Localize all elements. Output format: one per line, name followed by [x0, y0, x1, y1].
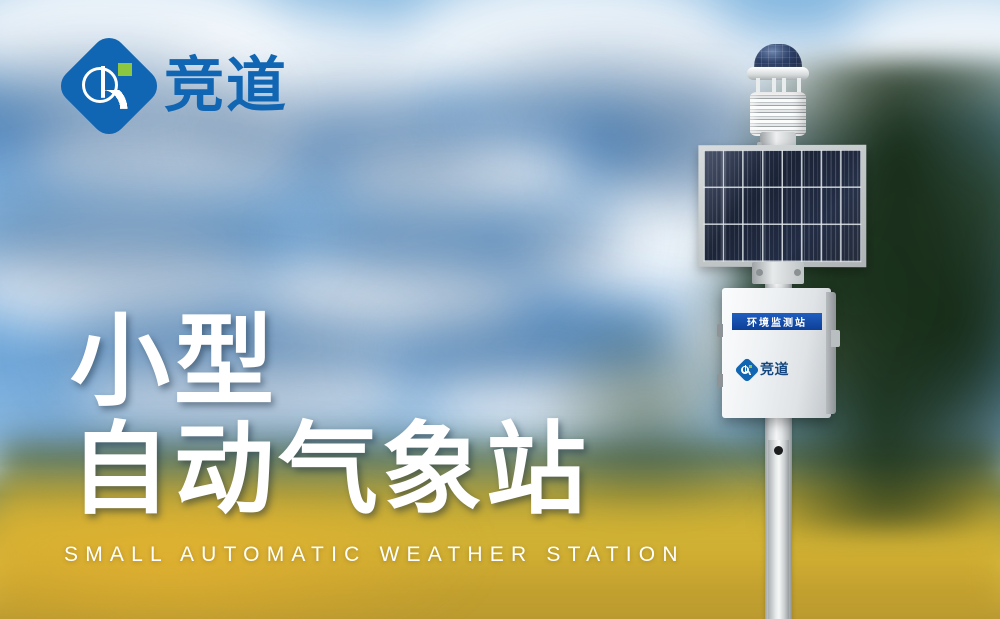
solar-panel-icon	[698, 145, 866, 268]
enclosure-brand-label: 竞道	[760, 363, 789, 377]
pole-cable-port	[774, 446, 783, 455]
headline-line-2: 自动气象站	[70, 420, 590, 520]
radiation-shield-icon	[750, 92, 806, 136]
brand-name: 竞道	[164, 56, 288, 116]
enclosure-banner: 环境监测站	[732, 313, 822, 330]
headline-line-1: 小型	[70, 312, 590, 412]
enclosure-box	[722, 288, 831, 418]
enclosure-side-panel	[826, 292, 836, 414]
weather-station-illustration: 环境监测站 竞道	[690, 30, 880, 619]
bracket-bolt-left	[756, 269, 763, 276]
enclosure-hinge-bottom	[717, 374, 723, 387]
pole-lower-section	[768, 440, 789, 619]
enclosure-hinge-top	[717, 324, 723, 337]
jingdao-diamond-logo-icon	[70, 47, 148, 125]
enclosure-banner-label: 环境监测站	[747, 314, 807, 329]
bracket-bolt-right	[794, 269, 801, 276]
banner-stage: 竞道 小型 自动气象站 SMALL AUTOMATIC WEATHER STAT…	[0, 0, 1000, 619]
jingdao-diamond-logo-icon-small	[738, 361, 756, 379]
brand-logo[interactable]: 竞道	[70, 47, 288, 125]
enclosure-brand: 竞道	[738, 360, 816, 380]
enclosure-latch	[831, 330, 840, 347]
headline-block: 小型 自动气象站	[70, 312, 590, 520]
headline-subtitle: SMALL AUTOMATIC WEATHER STATION	[64, 543, 685, 567]
